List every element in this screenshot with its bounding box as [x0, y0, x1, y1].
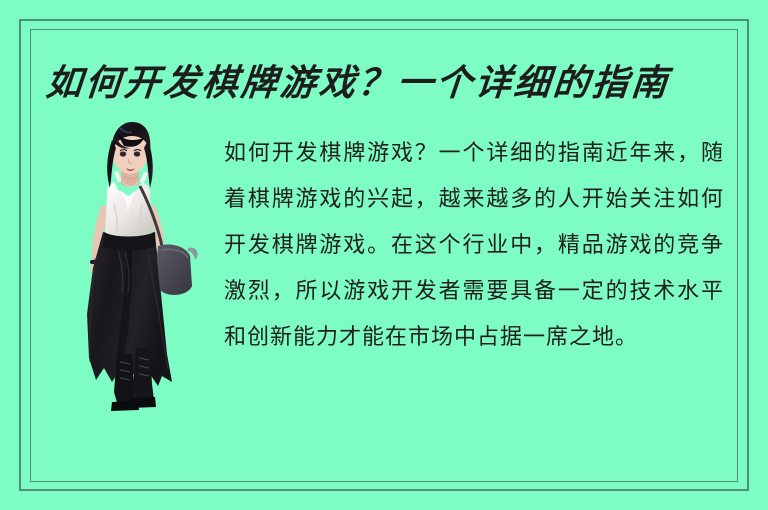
poster-canvas: 如何开发棋牌游戏？一个详细的指南 如何开发棋牌游戏？一个详细的指南近年来，随着棋…	[0, 0, 768, 510]
body-paragraph: 如何开发棋牌游戏？一个详细的指南近年来，随着棋牌游戏的兴起，越来越多的人开始关注…	[224, 131, 724, 361]
woman-standing-illustration	[62, 118, 202, 418]
figure-handbag	[157, 244, 198, 294]
figure-head	[107, 122, 153, 188]
page-title: 如何开发棋牌游戏？一个详细的指南	[44, 57, 725, 109]
